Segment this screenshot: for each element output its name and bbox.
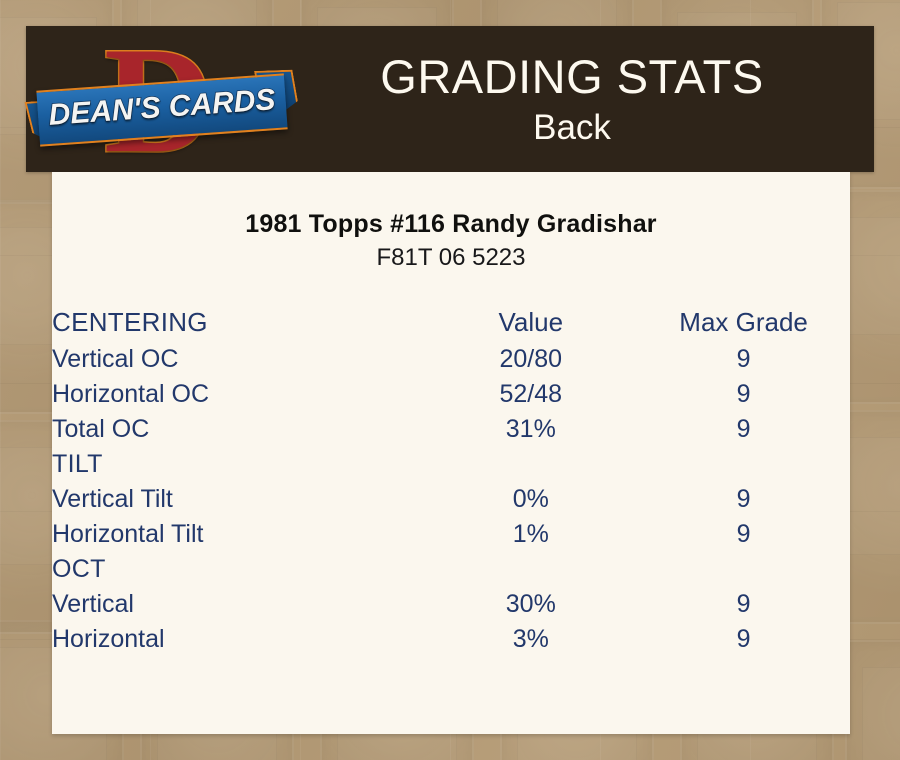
table-row: Vertical Tilt0%9: [52, 482, 850, 517]
stat-value: 30%: [424, 587, 637, 622]
table-row: Horizontal3%9: [52, 622, 850, 657]
stat-max-grade: 9: [637, 342, 850, 377]
column-header-value: Value: [424, 302, 637, 342]
stat-max-grade: 9: [637, 622, 850, 657]
stat-value: 52/48: [424, 377, 637, 412]
section-header-centering: CENTERING: [52, 302, 424, 342]
stat-value: 0%: [424, 482, 637, 517]
table-row: Horizontal OC52/489: [52, 377, 850, 412]
stat-label: Vertical OC: [52, 342, 424, 377]
stat-label: Total OC: [52, 412, 424, 447]
grading-stats-table: CENTERINGValueMax GradeVertical OC20/809…: [52, 302, 850, 657]
stat-label: Horizontal: [52, 622, 424, 657]
stat-label: Horizontal OC: [52, 377, 424, 412]
stat-value: 1%: [424, 517, 637, 552]
section-row: OCT: [52, 552, 850, 587]
section-header-oct: OCT: [52, 552, 850, 587]
content-panel: 1981 Topps #116 Randy Gradishar F81T 06 …: [52, 172, 850, 734]
page-title: GRADING STATS: [298, 49, 846, 105]
table-row: Total OC31%9: [52, 412, 850, 447]
stat-value: 20/80: [424, 342, 637, 377]
stat-label: Vertical Tilt: [52, 482, 424, 517]
section-row: TILT: [52, 447, 850, 482]
stat-max-grade: 9: [637, 377, 850, 412]
page-subtitle: Back: [298, 107, 846, 149]
table-row: Vertical OC20/809: [52, 342, 850, 377]
background-card-image: [845, 640, 900, 760]
card-serial-number: F81T 06 5223: [52, 243, 850, 273]
card-title: 1981 Topps #116 Randy Gradishar: [52, 172, 850, 239]
stat-value: 3%: [424, 622, 637, 657]
section-header-tilt: TILT: [52, 447, 850, 482]
table-row: Vertical30%9: [52, 587, 850, 622]
table-header-row: CENTERINGValueMax Grade: [52, 302, 850, 342]
header-title-group: GRADING STATS Back: [298, 49, 874, 149]
deans-cards-logo[interactable]: D DEAN'S CARDS: [26, 26, 298, 172]
stat-max-grade: 9: [637, 587, 850, 622]
stat-max-grade: 9: [637, 482, 850, 517]
logo-banner-text: DEAN'S CARDS: [36, 73, 287, 142]
page-root: D DEAN'S CARDS GRADING STATS Back 1981 T…: [0, 0, 900, 760]
column-header-max-grade: Max Grade: [637, 302, 850, 342]
page-header: D DEAN'S CARDS GRADING STATS Back: [26, 26, 874, 172]
stat-max-grade: 9: [637, 412, 850, 447]
stat-label: Vertical: [52, 587, 424, 622]
table-row: Horizontal Tilt1%9: [52, 517, 850, 552]
stat-value: 31%: [424, 412, 637, 447]
stat-label: Horizontal Tilt: [52, 517, 424, 552]
stat-max-grade: 9: [637, 517, 850, 552]
